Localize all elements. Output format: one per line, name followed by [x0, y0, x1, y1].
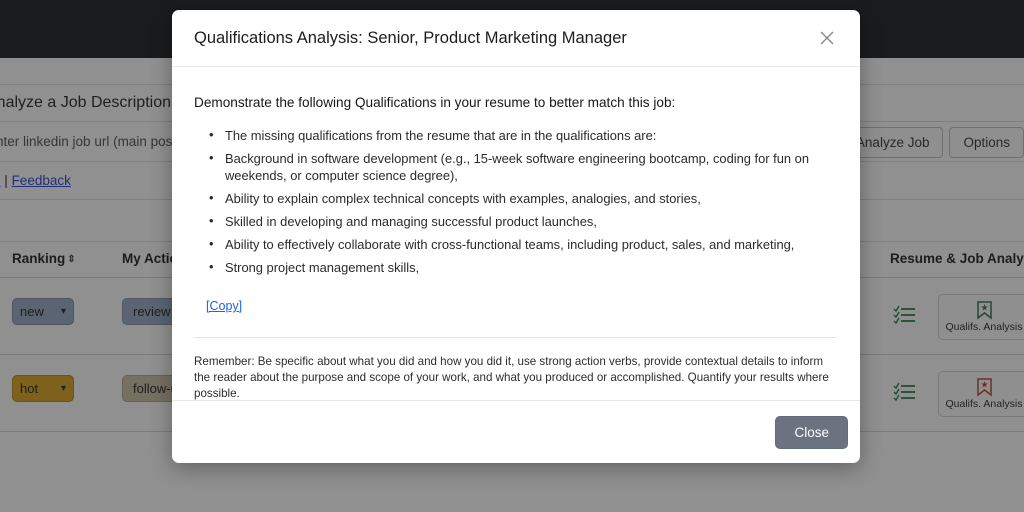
- list-item: Ability to explain complex technical con…: [206, 190, 836, 207]
- list-item: Skilled in developing and managing succe…: [206, 213, 836, 230]
- modal-header: Qualifications Analysis: Senior, Product…: [172, 10, 860, 67]
- modal-title: Qualifications Analysis: Senior, Product…: [194, 29, 814, 48]
- list-item: The missing qualifications from the resu…: [206, 127, 836, 144]
- copy-link[interactable]: [Copy]: [206, 299, 242, 313]
- qualifications-list: The missing qualifications from the resu…: [206, 127, 836, 276]
- list-item: Ability to effectively collaborate with …: [206, 236, 836, 253]
- copy-link-wrapper: [Copy]: [206, 297, 836, 315]
- modal-body: Demonstrate the following Qualifications…: [172, 67, 860, 400]
- close-button[interactable]: Close: [775, 416, 848, 449]
- divider: [194, 337, 836, 338]
- list-item: Background in software development (e.g.…: [206, 150, 836, 184]
- close-icon[interactable]: [814, 25, 840, 51]
- modal-footer: Close: [172, 400, 860, 463]
- remember-note: Remember: Be specific about what you did…: [194, 354, 834, 400]
- list-item: Strong project management skills,: [206, 259, 836, 276]
- modal-lead-text: Demonstrate the following Qualifications…: [194, 95, 836, 110]
- qualifications-analysis-modal: Qualifications Analysis: Senior, Product…: [172, 10, 860, 463]
